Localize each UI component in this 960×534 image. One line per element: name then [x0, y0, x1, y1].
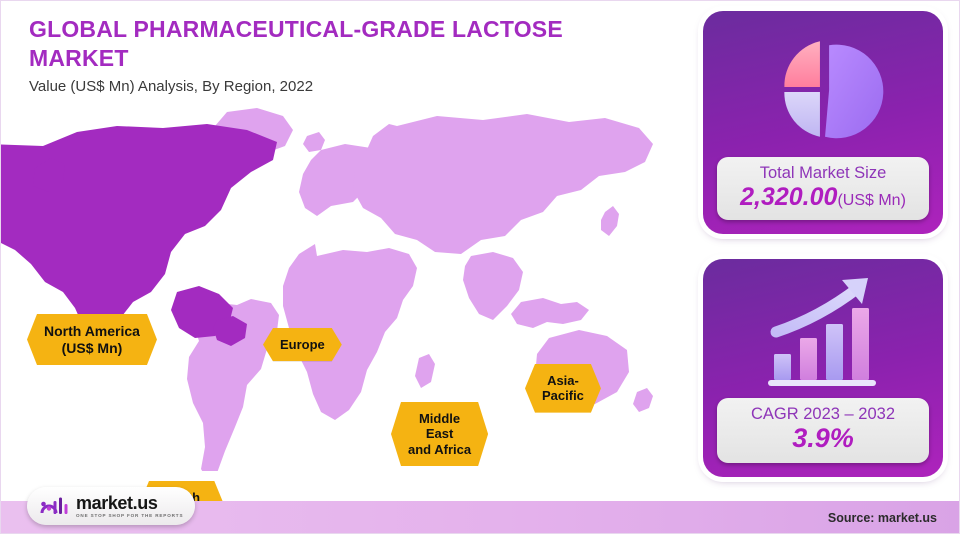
- total-market-size-card[interactable]: Total Market Size 2,320.00(US$ Mn): [703, 11, 943, 234]
- logo-text-wrap: market.us ONE STOP SHOP FOR THE REPORTS: [76, 494, 183, 519]
- market-size-value: 2,320.00(US$ Mn): [721, 184, 925, 212]
- map-label-europe[interactable]: Europe: [263, 328, 342, 361]
- growth-bar-chart-icon: [717, 271, 929, 398]
- cagr-label: CAGR 2023 – 2032: [721, 405, 925, 423]
- cagr-value: 3.9%: [721, 424, 925, 454]
- logo-wordmark: market.us: [76, 494, 183, 512]
- header: GLOBAL PHARMACEUTICAL-GRADE LACTOSE MARK…: [29, 15, 669, 95]
- market-us-logo[interactable]: market.us ONE STOP SHOP FOR THE REPORTS: [27, 487, 195, 525]
- infographic-page: GLOBAL PHARMACEUTICAL-GRADE LACTOSE MARK…: [0, 0, 960, 534]
- page-title: GLOBAL PHARMACEUTICAL-GRADE LACTOSE MARK…: [29, 15, 669, 74]
- pie-chart-icon: [717, 23, 929, 157]
- page-subtitle: Value (US$ Mn) Analysis, By Region, 2022: [29, 78, 669, 95]
- map-label-north-america[interactable]: North America (US$ Mn): [27, 314, 157, 365]
- world-map: [1, 106, 691, 471]
- market-size-number: 2,320.00: [740, 183, 837, 211]
- cagr-value-box: CAGR 2023 – 2032 3.9%: [717, 398, 929, 463]
- logo-tagline: ONE STOP SHOP FOR THE REPORTS: [76, 514, 183, 519]
- market-size-label: Total Market Size: [721, 164, 925, 182]
- source-label: Source: market.us: [828, 511, 937, 525]
- market-size-unit: (US$ Mn): [837, 192, 905, 209]
- market-size-value-box: Total Market Size 2,320.00(US$ Mn): [717, 157, 929, 220]
- map-label-asia-pacific[interactable]: Asia- Pacific: [525, 364, 601, 413]
- logo-mark-icon: [39, 494, 69, 518]
- cagr-card[interactable]: CAGR 2023 – 2032 3.9%: [703, 259, 943, 477]
- map-label-middle-east-and-africa[interactable]: Middle East and Africa: [391, 402, 488, 466]
- map-container: North America (US$ Mn) Europe Middle Eas…: [1, 106, 691, 471]
